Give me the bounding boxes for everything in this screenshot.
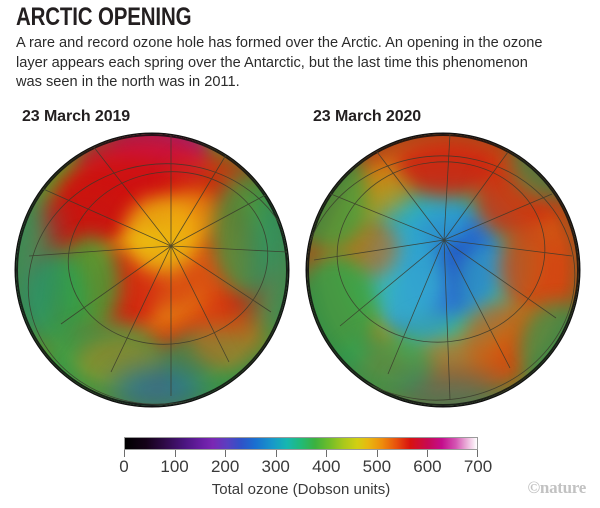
colorbar-axis-label: Total ozone (Dobson units): [124, 481, 478, 498]
colorbar-tick: [377, 450, 378, 457]
colorbar-tick-label: 200: [211, 457, 239, 477]
page-subtitle: A rare and record ozone hole has formed …: [16, 34, 556, 92]
panel-2019: 23 March 2019: [16, 108, 288, 410]
header: ARCTIC OPENING A rare and record ozone h…: [16, 4, 584, 92]
panel-2020: 23 March 2020: [307, 108, 579, 410]
colorbar-tick-labels: 0100200300400500600700: [124, 457, 478, 479]
colorbar-tick: [326, 450, 327, 457]
colorbar-tick: [124, 450, 125, 457]
colorbar-block: 0100200300400500600700: [124, 437, 478, 479]
panel-label-2019: 23 March 2019: [22, 108, 288, 126]
colorbar-tick: [477, 450, 478, 457]
colorbar-tick: [175, 450, 176, 457]
colorbar-gradient: [124, 437, 478, 450]
globe-wrap-2019: [16, 134, 288, 410]
globe-2019: [16, 134, 288, 406]
graticule-2019: [16, 134, 288, 406]
graticule-2020: [307, 134, 579, 406]
colorbar-tick: [427, 450, 428, 457]
colorbar-tick-label: 300: [262, 457, 290, 477]
colorbar-tick: [225, 450, 226, 457]
colorbar-tick-label: 400: [312, 457, 340, 477]
globe-wrap-2020: [307, 134, 579, 410]
colorbar-tick-label: 700: [464, 457, 492, 477]
panel-label-2020: 23 March 2020: [313, 108, 579, 126]
page-title: ARCTIC OPENING: [16, 4, 482, 30]
colorbar-tick-label: 100: [160, 457, 188, 477]
globe-2020: [307, 134, 579, 406]
colorbar-tick-label: 600: [413, 457, 441, 477]
colorbar-tick: [276, 450, 277, 457]
colorbar-tick-label: 0: [119, 457, 128, 477]
colorbar-tick-label: 500: [363, 457, 391, 477]
colorbar-ticks: [124, 450, 478, 457]
nature-logo: ©nature: [528, 478, 586, 498]
